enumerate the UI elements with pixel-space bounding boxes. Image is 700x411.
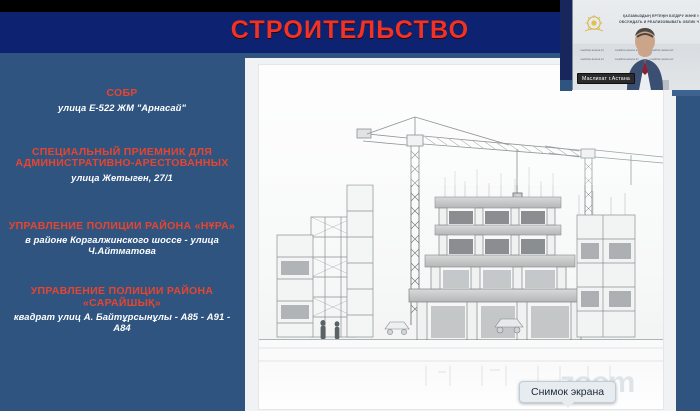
- state-emblem-icon: [581, 14, 607, 36]
- slide-text-column: СОБР улица Е-522 ЖМ "Арнасай" СПЕЦИАЛЬНЫ…: [6, 88, 238, 357]
- block-heading: СПЕЦИАЛЬНЫЙ ПРИЕМНИК ДЛЯ АДМИНИСТРАТИВНО…: [6, 147, 238, 170]
- block-heading: УПРАВЛЕНИЕ ПОЛИЦИИ РАЙОНА «САРАЙШЫҚ»: [6, 286, 238, 309]
- backdrop-url: maslihat.astana.kz: [580, 46, 604, 55]
- backdrop-text-kk: ҚАЛАМЫЗДЫҢ ЕРТЕҢІН БІЛДІРУ ЖӘНЕ ІСКЕ: [623, 14, 699, 19]
- block-subtitle: улица Жетыген, 27/1: [6, 172, 238, 183]
- block-heading: СОБР: [6, 88, 238, 100]
- participant-video-tile[interactable]: ҚАЛАМЫЗДЫҢ ЕРТЕҢІН БІЛДІРУ ЖӘНЕ ІСКЕ ОБС…: [572, 0, 700, 90]
- block-subtitle: улица Е-522 ЖМ "Арнасай": [6, 102, 238, 113]
- backdrop-url: maslihat.astana.kz: [580, 55, 604, 64]
- block-subtitle: в районе Коргалжинского шоссе - улица Ч.…: [6, 234, 238, 256]
- construction-site-sketch-graphic: [259, 65, 663, 409]
- slide-block-sobr: СОБР улица Е-522 ЖМ "Арнасай": [6, 88, 238, 113]
- video-tile-left-gutter: [560, 0, 572, 80]
- construction-sketch: [258, 64, 664, 410]
- screen-share-window: СТРОИТЕЛЬСТВО СОБР улица Е-522 ЖМ "Арнас…: [0, 0, 700, 411]
- slide-block-special-reception: СПЕЦИАЛЬНЫЙ ПРИЕМНИК ДЛЯ АДМИНИСТРАТИВНО…: [6, 147, 238, 183]
- video-tile-left-gutter-lower: [560, 80, 572, 91]
- block-subtitle: квадрат улиц А. Байтұрсынұлы - А85 - А91…: [6, 311, 238, 333]
- slide-image-panel: [245, 58, 676, 411]
- slide-block-police-saraishyq: УПРАВЛЕНИЕ ПОЛИЦИИ РАЙОНА «САРАЙШЫҚ» ква…: [6, 286, 238, 333]
- screenshot-tooltip: Снимок экрана: [519, 381, 616, 403]
- block-heading: УПРАВЛЕНИЕ ПОЛИЦИИ РАЙОНА «НҰРА»: [6, 221, 238, 233]
- participant-name-label: Маслихат г.Астана: [577, 73, 635, 84]
- slide-block-police-nura: УПРАВЛЕНИЕ ПОЛИЦИИ РАЙОНА «НҰРА» в район…: [6, 221, 238, 257]
